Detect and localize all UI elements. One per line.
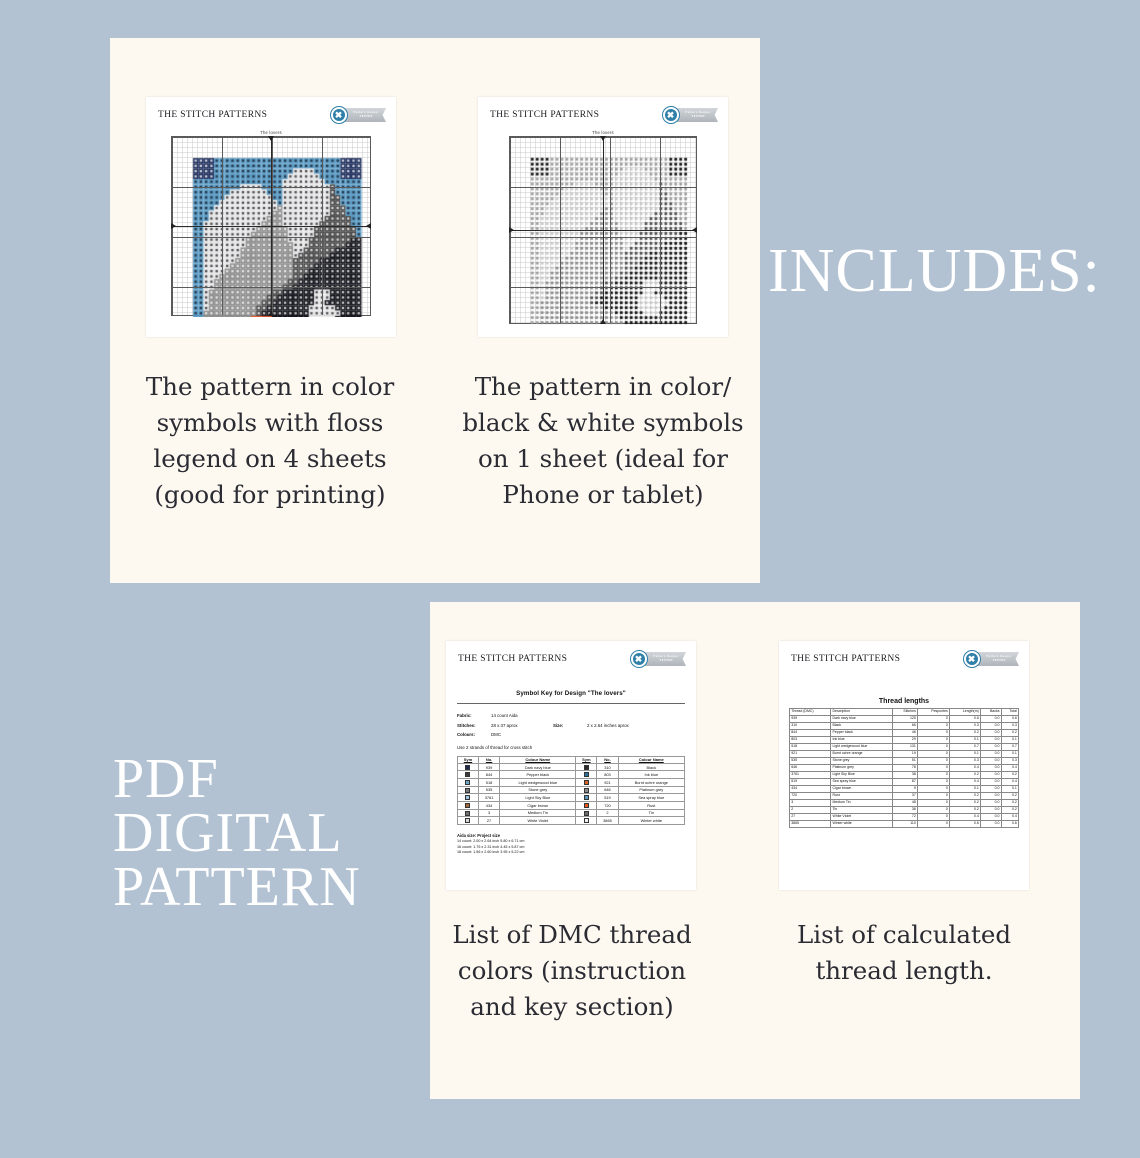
table-cell: 3	[790, 800, 831, 807]
table-cell: 0.3	[1001, 758, 1018, 765]
table-cell: White Violet	[831, 814, 892, 821]
table-cell: 0.6	[949, 716, 980, 723]
pattern-keeper-tested-badge: Pattern Keeper TESTED ✖	[330, 106, 386, 124]
document-header: THE STITCH PATTERNS Pattern Keeper TESTE…	[446, 641, 696, 672]
table-cell: 0	[918, 737, 950, 744]
table-cell: 131	[892, 744, 917, 751]
table-row: 518Light wedgewood blue921Burnt ochre or…	[458, 779, 685, 787]
table-cell: 51	[892, 758, 917, 765]
table-cell: 27	[790, 814, 831, 821]
badge-circle-icon: ✖	[963, 650, 981, 668]
column-header: Backs	[980, 709, 1001, 716]
table-cell: 0.0	[980, 786, 1001, 793]
table-cell: 519	[790, 779, 831, 786]
table-row: 803Ink blue2900.10.00.1	[790, 737, 1019, 744]
chart-design-name: The lovers	[478, 130, 728, 135]
table-cell: 0.1	[1001, 751, 1018, 758]
table-cell: 0	[918, 716, 950, 723]
color-swatch	[458, 794, 479, 802]
table-cell: Black	[831, 723, 892, 730]
table-cell: 3	[478, 809, 499, 817]
table-row: 844Pepper black4600.20.00.2	[790, 730, 1019, 737]
column-header: No.	[478, 756, 499, 763]
badge-circle-icon: ✖	[330, 106, 348, 124]
preview-card-color-symbols[interactable]: THE STITCH PATTERNS Pattern Keeper TESTE…	[146, 97, 396, 337]
table-cell: 0	[918, 786, 950, 793]
table-body: 939Dark navy blue310Black844Pepper black…	[458, 763, 685, 824]
table-cell: 0.4	[949, 814, 980, 821]
table-body: 939Dark navy blue12500.60.00.6310Black66…	[790, 716, 1019, 828]
table-row: 939Dark navy blue12500.60.00.6	[790, 716, 1019, 723]
table-cell: 0	[918, 751, 950, 758]
table-cell: 38	[892, 772, 917, 779]
table-cell: Dark navy blue	[831, 716, 892, 723]
table-cell: Burnt ochre orange	[618, 779, 684, 787]
symbol-key-table: SymNo.Colour NameSymNo.Colour Name 939Da…	[457, 756, 685, 825]
table-cell: 0.2	[949, 730, 980, 737]
table-cell: 3761	[478, 794, 499, 802]
table-cell: 0.2	[949, 793, 980, 800]
table-cell: 921	[597, 779, 618, 787]
table-row: 3865Winter white11000.60.00.6	[790, 821, 1019, 828]
table-cell: 0.4	[1001, 765, 1018, 772]
color-swatch	[576, 809, 597, 817]
table-cell: 2	[790, 807, 831, 814]
table-cell: 518	[790, 744, 831, 751]
table-cell: 0	[918, 821, 950, 828]
color-swatch	[458, 786, 479, 794]
table-cell: 939	[478, 763, 499, 771]
chart-wrapper: The lovers	[478, 130, 728, 324]
color-swatch	[576, 779, 597, 787]
center-arrow-bottom	[268, 311, 274, 316]
table-cell: 646	[790, 765, 831, 772]
column-header: Colour Name	[500, 756, 576, 763]
table-cell: 0	[918, 779, 950, 786]
table-cell: 0.1	[1001, 786, 1018, 793]
stitches-label: Stitches:	[457, 721, 491, 731]
center-arrow-bottom	[600, 319, 606, 324]
table-row: 921Burnt ochre orange1900.10.00.1	[790, 751, 1019, 758]
column-header: Pespuntes	[918, 709, 950, 716]
table-cell: 720	[790, 793, 831, 800]
table-cell: 0.0	[980, 779, 1001, 786]
table-cell: Rust	[831, 793, 892, 800]
thread-lengths-table: Thread (DMC)DescriptionStitchesPespuntes…	[789, 708, 1019, 828]
includes-heading: INCLUDES:	[768, 236, 1101, 307]
table-cell: 9	[892, 786, 917, 793]
fabric-value: 14 count Aida	[491, 711, 553, 721]
table-cell: 0	[918, 723, 950, 730]
table-cell: 310	[790, 723, 831, 730]
table-cell: Winter white	[618, 817, 684, 825]
stitch-canvas-bw	[510, 137, 698, 325]
center-arrow-left	[509, 227, 514, 233]
table-cell: 844	[478, 771, 499, 779]
aida-size-block: Aida size: Project size 14 count: 2.00 x…	[457, 833, 685, 856]
preview-card-bw-symbols[interactable]: THE STITCH PATTERNS Pattern Keeper TESTE…	[478, 97, 728, 337]
table-cell: 72	[892, 814, 917, 821]
table-cell: 844	[790, 730, 831, 737]
pattern-keeper-tested-badge: Pattern Keeper TESTED ✖	[630, 650, 686, 668]
table-cell: Sea spray blue	[618, 794, 684, 802]
column-header: Total	[1001, 709, 1018, 716]
table-cell: 0.7	[1001, 744, 1018, 751]
table-header-row: SymNo.Colour NameSymNo.Colour Name	[458, 756, 685, 763]
badge-x-glyph: ✖	[633, 653, 645, 665]
table-cell: Ink blue	[831, 737, 892, 744]
table-cell: 535	[790, 758, 831, 765]
brand-title: THE STITCH PATTERNS	[158, 110, 267, 120]
color-swatch	[458, 771, 479, 779]
caption-dmc-list: List of DMC thread colors (instruction a…	[452, 917, 692, 1025]
table-cell: 803	[597, 771, 618, 779]
table-cell: Tin	[831, 807, 892, 814]
table-cell: 0	[918, 744, 950, 751]
caption-bw-symbols: The pattern in color/ black & white symb…	[462, 369, 744, 513]
table-cell: 0.0	[980, 765, 1001, 772]
brand-title: THE STITCH PATTERNS	[791, 654, 900, 664]
table-row: 939Dark navy blue310Black	[458, 763, 685, 771]
color-swatch	[458, 763, 479, 771]
table-row: 535Stone grey646Platinum grey	[458, 786, 685, 794]
table-cell: 0.4	[1001, 814, 1018, 821]
table-cell: Dark navy blue	[500, 763, 576, 771]
table-cell: Light wedgewood blue	[500, 779, 576, 787]
table-cell: Ink blue	[618, 771, 684, 779]
table-cell: 3865	[597, 817, 618, 825]
center-line-horizontal	[510, 230, 696, 231]
table-cell: 0.2	[1001, 772, 1018, 779]
table-cell: 0.1	[949, 751, 980, 758]
table-cell: 0.0	[980, 744, 1001, 751]
table-cell: 535	[478, 786, 499, 794]
table-row: 3Medium Tin2Tin	[458, 809, 685, 817]
color-swatch	[458, 801, 479, 809]
table-cell: 0.2	[949, 800, 980, 807]
pdf-heading-line-2: DIGITAL	[113, 806, 361, 860]
symbol-key-title: Symbol Key for Design "The lovers"	[457, 690, 685, 697]
color-swatch	[458, 779, 479, 787]
table-cell: 125	[892, 716, 917, 723]
table-cell: Pepper black	[500, 771, 576, 779]
table-cell: 0	[918, 814, 950, 821]
table-cell: 0	[918, 793, 950, 800]
document-header: THE STITCH PATTERNS Pattern Keeper TESTE…	[779, 641, 1029, 672]
table-row: 2Tin3600.20.00.2	[790, 807, 1019, 814]
caption-color-symbols: The pattern in color symbols with floss …	[132, 369, 408, 513]
symbol-key-meta: Fabric:14 count Aida Stitches:28 x 37 ap…	[457, 711, 685, 740]
pdf-digital-pattern-heading: PDF DIGITAL PATTERN	[113, 752, 361, 914]
color-swatch	[576, 763, 597, 771]
table-cell: 3761	[790, 772, 831, 779]
table-cell: Stone grey	[500, 786, 576, 794]
color-swatch	[576, 771, 597, 779]
table-cell: Rust	[618, 801, 684, 809]
table-cell: 48	[892, 800, 917, 807]
center-arrow-right	[366, 223, 371, 229]
table-cell: Black	[618, 763, 684, 771]
table-cell: 27	[478, 817, 499, 825]
aida-line: 18 count: 1.56 x 2.60 inch 3.95 x 5.22 c…	[457, 850, 685, 855]
cross-stitch-grid-color	[171, 136, 371, 316]
table-cell: Platinum grey	[831, 765, 892, 772]
table-cell: 310	[597, 763, 618, 771]
table-cell: 0.0	[980, 772, 1001, 779]
color-swatch	[458, 817, 479, 825]
table-cell: 0.0	[980, 793, 1001, 800]
table-cell: Winter white	[831, 821, 892, 828]
table-cell: 0	[918, 772, 950, 779]
color-swatch	[576, 794, 597, 802]
table-cell: 0.6	[949, 821, 980, 828]
table-cell: 0.0	[980, 737, 1001, 744]
table-cell: White Violet	[500, 817, 576, 825]
table-cell: 66	[892, 723, 917, 730]
column-header: Length(m)	[949, 709, 980, 716]
table-cell: 434	[790, 786, 831, 793]
thread-lengths-body: Thread (DMC)DescriptionStitchesPespuntes…	[779, 708, 1029, 828]
table-cell: Light wedgewood blue	[831, 744, 892, 751]
table-cell: 720	[597, 801, 618, 809]
table-cell: Medium Tin	[500, 809, 576, 817]
center-arrow-top	[268, 136, 274, 141]
colours-value: DMC	[491, 730, 553, 740]
table-cell: Light Sky Blue	[500, 794, 576, 802]
column-header: Stitches	[892, 709, 917, 716]
table-cell: 0.0	[980, 758, 1001, 765]
table-cell: Platinum grey	[618, 786, 684, 794]
stitch-canvas-color	[172, 137, 372, 317]
table-cell: 87	[892, 779, 917, 786]
table-cell: 0	[918, 800, 950, 807]
brand-title: THE STITCH PATTERNS	[458, 654, 567, 664]
table-cell: Cigar brown	[500, 801, 576, 809]
table-cell: 0.3	[949, 723, 980, 730]
caption-thread-length: List of calculated thread length.	[760, 917, 1048, 989]
column-header: Description	[831, 709, 892, 716]
table-cell: 518	[478, 779, 499, 787]
table-cell: 46	[892, 730, 917, 737]
table-cell: 0	[918, 730, 950, 737]
badge-circle-icon: ✖	[630, 650, 648, 668]
table-cell: 110	[892, 821, 917, 828]
center-arrow-top	[600, 136, 606, 141]
center-line-horizontal	[172, 226, 370, 227]
table-cell: 0.4	[949, 779, 980, 786]
pdf-heading-line-3: PATTERN	[113, 860, 361, 914]
table-row: 434Cigar brown900.10.00.1	[790, 786, 1019, 793]
table-cell: Pepper black	[831, 730, 892, 737]
cross-stitch-grid-bw	[509, 136, 697, 324]
table-cell: 0.0	[980, 814, 1001, 821]
thread-lengths-title: Thread lengths	[779, 698, 1029, 705]
column-header: No.	[597, 756, 618, 763]
table-cell: 0.7	[949, 744, 980, 751]
table-cell: 519	[597, 794, 618, 802]
badge-x-glyph: ✖	[333, 109, 345, 121]
document-header: THE STITCH PATTERNS Pattern Keeper TESTE…	[146, 97, 396, 128]
preview-card-symbol-key[interactable]: THE STITCH PATTERNS Pattern Keeper TESTE…	[446, 641, 696, 890]
colours-label: Colours:	[457, 730, 491, 740]
divider	[457, 703, 685, 704]
color-swatch	[458, 809, 479, 817]
table-cell: Stone grey	[831, 758, 892, 765]
table-cell: 0.4	[949, 765, 980, 772]
table-cell: 29	[892, 737, 917, 744]
table-cell: 0.1	[1001, 737, 1018, 744]
badge-circle-icon: ✖	[662, 106, 680, 124]
table-cell: 0.1	[949, 786, 980, 793]
table-row: 646Platinum grey7600.40.00.4	[790, 765, 1019, 772]
table-cell: Sea spray blue	[831, 779, 892, 786]
table-cell: 0	[918, 765, 950, 772]
table-row: 720Rust3700.20.00.2	[790, 793, 1019, 800]
table-row: 844Pepper black803Ink blue	[458, 771, 685, 779]
table-cell: 0.3	[1001, 723, 1018, 730]
table-cell: 0.0	[980, 716, 1001, 723]
table-row: 310Black6600.30.00.3	[790, 723, 1019, 730]
table-cell: 0.4	[1001, 779, 1018, 786]
table-row: 3761Light Sky Blue3800.20.00.2	[790, 772, 1019, 779]
column-header: Sym	[458, 756, 479, 763]
pattern-keeper-tested-badge: Pattern Keeper TESTED ✖	[662, 106, 718, 124]
center-arrow-right	[692, 227, 697, 233]
column-header: Thread (DMC)	[790, 709, 831, 716]
table-cell: Cigar brown	[831, 786, 892, 793]
table-cell: 0.0	[980, 730, 1001, 737]
table-cell: Light Sky Blue	[831, 772, 892, 779]
chart-design-name: The lovers	[146, 130, 396, 135]
table-row: 519Sea spray blue8700.40.00.4	[790, 779, 1019, 786]
table-cell: 0.6	[1001, 716, 1018, 723]
color-swatch	[576, 801, 597, 809]
document-header: THE STITCH PATTERNS Pattern Keeper TESTE…	[478, 97, 728, 128]
pdf-heading-line-1: PDF	[113, 752, 361, 806]
table-row: 27White Violet7200.40.00.4	[790, 814, 1019, 821]
color-swatch	[576, 817, 597, 825]
table-cell: Tin	[618, 809, 684, 817]
color-swatch	[576, 786, 597, 794]
strands-note: Use 2 strands of thread for cross stitch	[457, 745, 685, 750]
aida-title: Aida size: Project size	[457, 833, 500, 838]
table-cell: 939	[790, 716, 831, 723]
table-cell: Medium Tin	[831, 800, 892, 807]
table-cell: 921	[790, 751, 831, 758]
column-header: Colour Name	[618, 756, 684, 763]
table-cell: 0.0	[980, 723, 1001, 730]
table-cell: 0.0	[980, 800, 1001, 807]
table-cell: 0.2	[1001, 807, 1018, 814]
size-label: Size:	[553, 721, 587, 731]
table-cell: 0.0	[980, 821, 1001, 828]
table-row: 535Stone grey5100.30.00.3	[790, 758, 1019, 765]
stitches-value: 28 x 37 aprox	[491, 721, 553, 731]
table-header-row: Thread (DMC)DescriptionStitchesPespuntes…	[790, 709, 1019, 716]
table-cell: 0.2	[949, 807, 980, 814]
table-cell: 434	[478, 801, 499, 809]
table-cell: 0	[918, 807, 950, 814]
table-cell: 0	[918, 758, 950, 765]
table-cell: 76	[892, 765, 917, 772]
center-arrow-left	[171, 223, 176, 229]
table-cell: 0.2	[1001, 730, 1018, 737]
table-cell: 0.0	[980, 807, 1001, 814]
table-cell: 0.6	[1001, 821, 1018, 828]
badge-x-glyph: ✖	[966, 653, 978, 665]
table-row: 3Medium Tin4800.20.00.2	[790, 800, 1019, 807]
table-cell: 646	[597, 786, 618, 794]
table-row: 518Light wedgewood blue13100.70.00.7	[790, 744, 1019, 751]
table-row: 27White Violet3865Winter white	[458, 817, 685, 825]
table-cell: 0.2	[1001, 793, 1018, 800]
table-cell: 36	[892, 807, 917, 814]
table-cell: 0.2	[1001, 800, 1018, 807]
badge-line-2: TESTED	[660, 659, 673, 663]
table-cell: 0.0	[980, 751, 1001, 758]
table-cell: 0.3	[949, 758, 980, 765]
symbol-key-body: Symbol Key for Design "The lovers" Fabri…	[446, 672, 696, 856]
table-cell: 0.2	[949, 772, 980, 779]
table-row: 434Cigar brown720Rust	[458, 801, 685, 809]
table-cell: 3865	[790, 821, 831, 828]
aida-lines: 14 count: 2.00 x 2.64 inch 5.80 x 6.71 c…	[457, 839, 685, 855]
table-cell: 19	[892, 751, 917, 758]
brand-title: THE STITCH PATTERNS	[490, 110, 599, 120]
badge-line-2: TESTED	[993, 659, 1006, 663]
badge-line-2: TESTED	[360, 115, 373, 119]
pattern-keeper-tested-badge: Pattern Keeper TESTED ✖	[963, 650, 1019, 668]
badge-x-glyph: ✖	[665, 109, 677, 121]
table-cell: 2	[597, 809, 618, 817]
table-cell: 803	[790, 737, 831, 744]
column-header: Sym	[576, 756, 597, 763]
table-cell: 37	[892, 793, 917, 800]
size-value: 2 x 2.64 inches aprox	[587, 723, 629, 728]
table-cell: 0.1	[949, 737, 980, 744]
preview-card-thread-lengths[interactable]: THE STITCH PATTERNS Pattern Keeper TESTE…	[779, 641, 1029, 890]
fabric-label: Fabric:	[457, 711, 491, 721]
table-row: 3761Light Sky Blue519Sea spray blue	[458, 794, 685, 802]
table-cell: Burnt ochre orange	[831, 751, 892, 758]
badge-line-2: TESTED	[692, 115, 705, 119]
chart-wrapper: The lovers	[146, 130, 396, 316]
